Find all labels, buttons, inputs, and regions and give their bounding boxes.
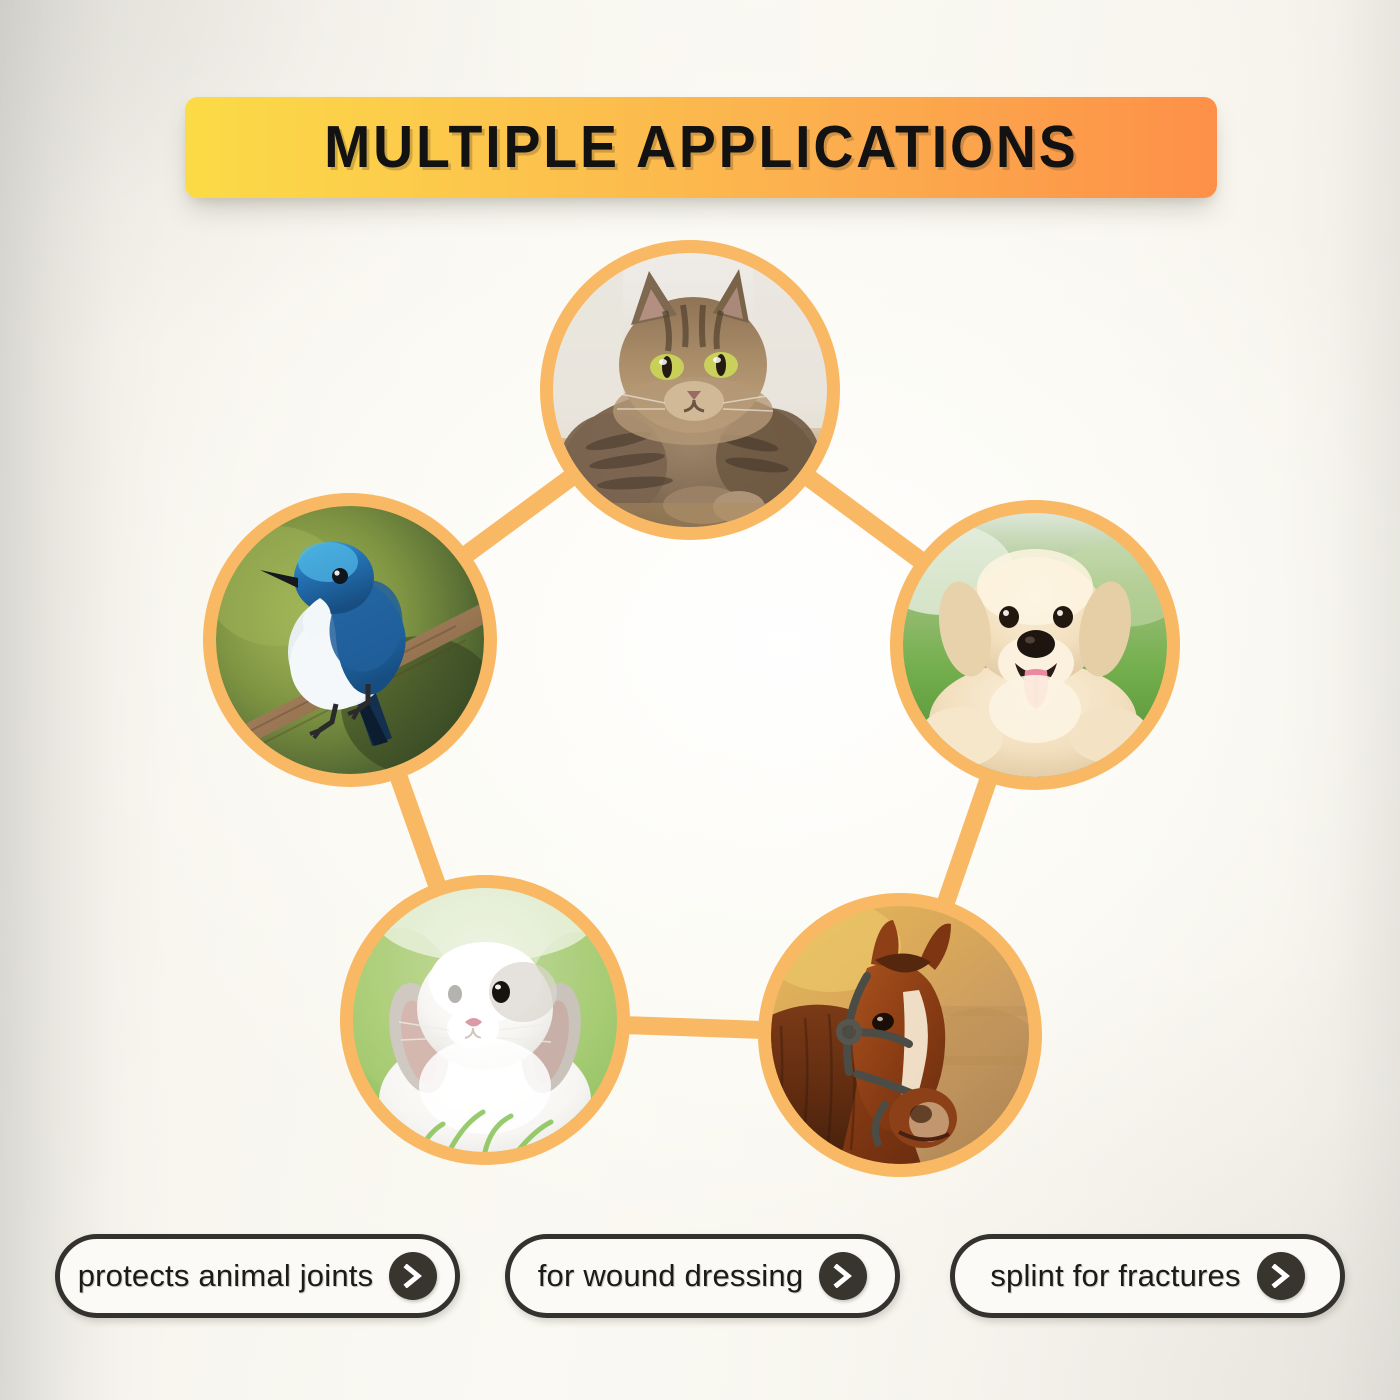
pill-label: splint for fractures [990, 1258, 1240, 1294]
connector-bird-cat [460, 473, 577, 559]
chevron-right-icon[interactable] [819, 1252, 867, 1300]
pill-label: for wound dressing [538, 1258, 804, 1294]
chevron-right-glyph [402, 1264, 424, 1288]
pill-splint-for-fractures[interactable]: splint for fractures [950, 1234, 1345, 1318]
background-edge-shade-left [0, 0, 168, 1400]
background-corner-shade-bottom-right [800, 980, 1400, 1400]
pill-label: protects animal joints [78, 1258, 374, 1294]
chevron-right-icon[interactable] [1257, 1252, 1305, 1300]
background-edge-shade-right [1280, 0, 1400, 1400]
cat-photo-art [553, 253, 827, 527]
bird-photo [216, 506, 484, 774]
rabbit-photo-art [353, 888, 617, 1152]
horse-photo-art [771, 906, 1029, 1164]
node-horse[interactable] [758, 893, 1042, 1177]
chevron-right-icon[interactable] [389, 1252, 437, 1300]
dog-photo [903, 513, 1167, 777]
node-rabbit[interactable] [340, 875, 630, 1165]
connector-rabbit-horse [620, 1025, 768, 1030]
pill-protects-animal-joints[interactable]: protects animal joints [55, 1234, 460, 1318]
chevron-right-glyph [1270, 1264, 1292, 1288]
page-title: MULTIPLE APPLICATIONS [324, 118, 1079, 177]
cat-photo [553, 253, 827, 527]
rabbit-photo [353, 888, 617, 1152]
pill-for-wound-dressing[interactable]: for wound dressing [505, 1234, 900, 1318]
dog-photo-art [903, 513, 1167, 777]
horse-photo [771, 906, 1029, 1164]
bird-photo-art [216, 506, 484, 774]
chevron-right-glyph [832, 1264, 854, 1288]
header-banner: MULTIPLE APPLICATIONS [185, 97, 1217, 198]
connector-bird-rabbit [396, 769, 440, 893]
connector-dog-horse [943, 773, 991, 911]
infographic-canvas: MULTIPLE APPLICATIONS [0, 0, 1400, 1400]
node-cat[interactable] [540, 240, 840, 540]
connector-lines [0, 0, 1400, 1400]
pentagon-diagram [0, 0, 1400, 1400]
node-dog[interactable] [890, 500, 1180, 790]
connector-cat-dog [803, 473, 927, 565]
node-bird[interactable] [203, 493, 497, 787]
